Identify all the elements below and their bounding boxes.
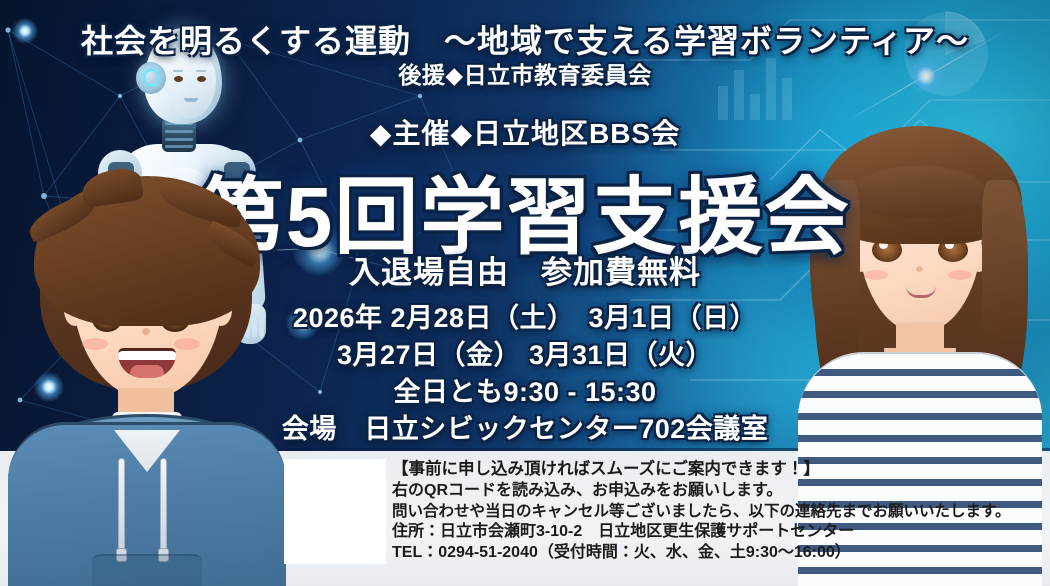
telephone-text: TEL：0294-51-2040（受付時間：火、水、金、土9:30〜16:00） [392, 545, 1032, 561]
qr-instruction-text: 右のQRコードを読み込み、お申込みをお願いします。 [392, 483, 1032, 499]
footer-contact-info: 【事前に申し込み頂ければスムーズにご案内できます！】 右のQRコードを読み込み、… [392, 461, 1032, 561]
contact-note-text: 問い合わせや当日のキャンセル等ございましたら、以下の連絡先までお願いいたします。 [392, 504, 1032, 520]
address-text: 住所：日立市会瀬町3-10-2 日立地区更生保護サポートセンター [392, 524, 1032, 540]
boy-body-overlay [8, 176, 286, 586]
advance-application-notice: 【事前に申し込み頂ければスムーズにご案内できます！】 [392, 461, 1032, 478]
qr-code-placeholder[interactable] [284, 459, 386, 564]
poster-canvas: 社会を明るくする運動 〜地域で支える学習ボランティア〜 後援◆日立市教育委員会 … [0, 0, 1050, 586]
support-organization-line: 後援◆日立市教育委員会 [0, 56, 1050, 90]
